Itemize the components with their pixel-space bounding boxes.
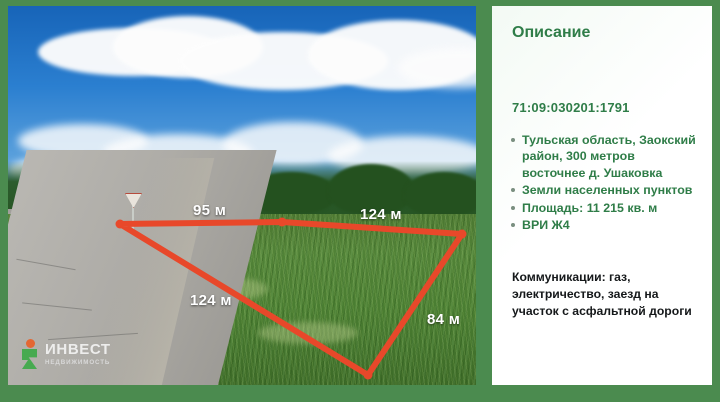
plot-vertex-marker <box>116 220 125 229</box>
description-panel: Описание 71:09:030201:1791 Тульская обла… <box>492 6 712 385</box>
measure-label-top-right: 124 м <box>360 206 402 223</box>
plot-boundary-polygon <box>120 222 462 375</box>
plot-boundary-overlay <box>8 6 476 385</box>
watermark-subtitle: НЕДВИЖИМОСТЬ <box>45 360 111 366</box>
list-item: ВРИ Ж4 <box>510 217 698 233</box>
land-listing-card: 95 м 124 м 124 м 84 м ИНВЕСТ НЕДВИЖИМОСТ… <box>0 0 720 402</box>
measure-label-right: 84 м <box>427 311 460 328</box>
watermark-logo: ИНВЕСТ НЕДВИЖИМОСТЬ <box>22 339 111 369</box>
watermark-title: ИНВЕСТ <box>45 342 111 357</box>
logo-dot-icon <box>26 339 35 348</box>
list-item: Тульская область, Заокский район, 300 ме… <box>510 132 698 181</box>
panel-title: Описание <box>512 24 698 42</box>
plot-vertex-marker <box>278 218 287 227</box>
property-facts-list: Тульская область, Заокский район, 300 ме… <box>510 132 698 233</box>
measure-label-top-left: 95 м <box>193 202 226 219</box>
cadastral-number: 71:09:030201:1791 <box>512 100 698 115</box>
communications-note: Коммуникации: газ, электричество, заезд … <box>512 269 698 319</box>
plot-vertex-marker <box>458 230 467 239</box>
measure-label-bottom-left: 124 м <box>190 292 232 309</box>
watermark-text: ИНВЕСТ НЕДВИЖИМОСТЬ <box>45 342 111 366</box>
list-item: Земли населенных пунктов <box>510 182 698 198</box>
logo-figure-icon <box>22 349 37 369</box>
invest-logo-icon <box>22 339 39 369</box>
plot-vertex-marker <box>364 371 373 380</box>
list-item: Площадь: 11 215 кв. м <box>510 200 698 216</box>
land-plot-photo[interactable]: 95 м 124 м 124 м 84 м ИНВЕСТ НЕДВИЖИМОСТ… <box>8 6 476 385</box>
